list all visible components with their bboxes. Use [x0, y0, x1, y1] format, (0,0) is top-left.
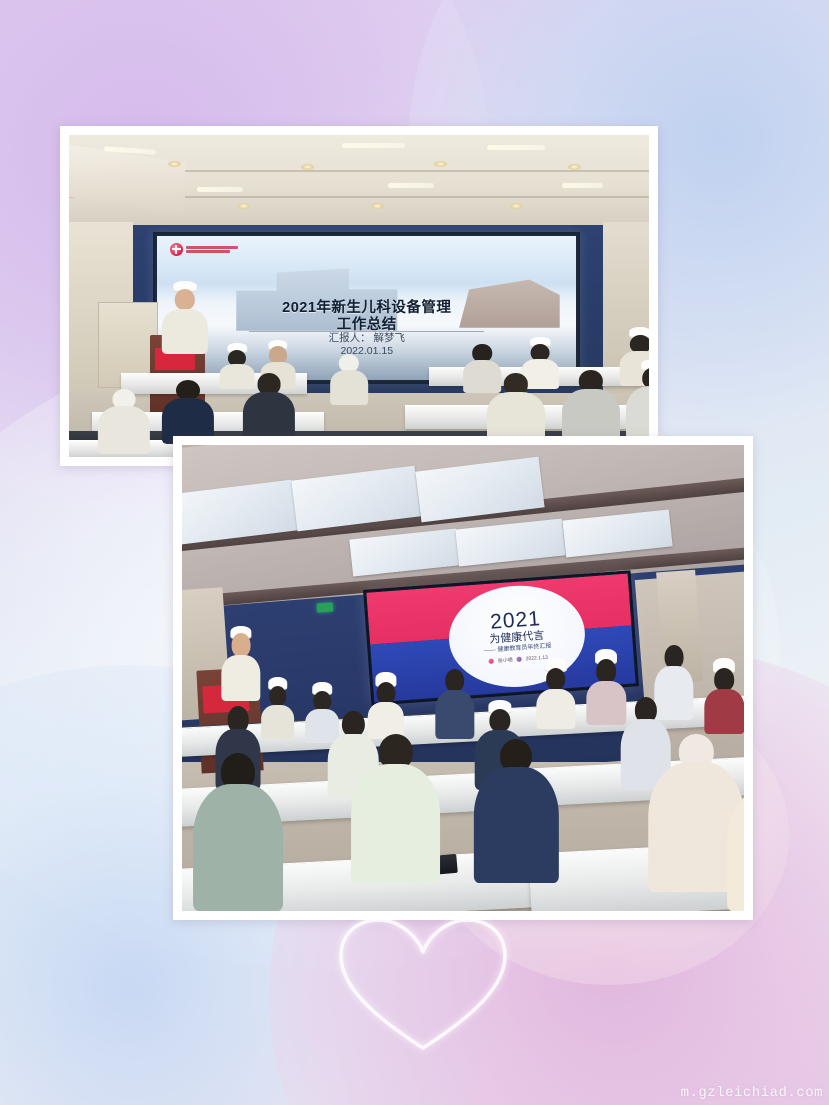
photo-top-frame: 2021年新生儿科设备管理 工作总结 汇报人： 解梦飞 2022.01.15 [60, 126, 658, 466]
audience-member-foreground [474, 739, 558, 883]
ceiling-light-strip [342, 143, 406, 148]
downlight [371, 203, 384, 209]
downlight [168, 161, 181, 167]
audience-member [626, 360, 649, 444]
site-watermark: m.gzleichiad.com [681, 1085, 823, 1101]
ceiling-light-strip [388, 183, 434, 188]
audience-member [536, 659, 575, 729]
speaker-nurse [162, 283, 208, 354]
collage-canvas: 2021年新生儿科设备管理 工作总结 汇报人： 解梦飞 2022.01.15 [0, 0, 829, 1105]
audience-member [243, 373, 295, 444]
slide-title-line1: 2021年新生儿科设备管理 [157, 300, 576, 317]
audience-member-foreground [727, 762, 744, 911]
speaker-nurse [221, 627, 260, 702]
presenter-icon [489, 659, 494, 664]
downlight [301, 164, 314, 170]
photo-bottom-image: 2021 为健康代言 —— 健康教育员年终汇报 岳小艳 2022.1.13 [182, 445, 744, 911]
hospital-logo [170, 243, 238, 256]
audience-member [330, 354, 368, 406]
downlight [510, 203, 523, 209]
ceiling-light-strip [197, 187, 243, 192]
ceiling-light-strip [562, 183, 603, 188]
presenter-label: 汇报人： [329, 332, 371, 344]
date-icon [517, 657, 522, 662]
audience-member [162, 380, 214, 444]
red-cross-icon [170, 243, 183, 256]
audience-member-foreground [193, 753, 283, 911]
audience-member [98, 389, 150, 453]
photo-bottom-frame: 2021 为健康代言 —— 健康教育员年终汇报 岳小艳 2022.1.13 [173, 436, 753, 920]
downlight [237, 203, 250, 209]
presenter-name: 岳小艳 [498, 657, 513, 665]
audience-member [261, 678, 295, 739]
audience-member [487, 373, 545, 444]
slide-title-top: 2021年新生儿科设备管理 工作总结 [157, 300, 576, 334]
presenter-name: 解梦飞 [374, 332, 406, 344]
photo-top-image: 2021年新生儿科设备管理 工作总结 汇报人： 解梦飞 2022.01.15 [69, 135, 649, 457]
ceiling-light-strip [487, 145, 545, 150]
conference-room-scene-top: 2021年新生儿科设备管理 工作总结 汇报人： 解梦飞 2022.01.15 [69, 135, 649, 457]
exit-sign [317, 603, 334, 613]
conference-room-scene-bottom: 2021 为健康代言 —— 健康教育员年终汇报 岳小艳 2022.1.13 [182, 445, 744, 911]
audience-member-foreground [351, 734, 441, 883]
downlight [434, 161, 447, 167]
audience-member [705, 659, 744, 734]
heart-decoration [333, 912, 513, 1060]
downlight [568, 164, 581, 170]
audience-member [435, 669, 474, 739]
